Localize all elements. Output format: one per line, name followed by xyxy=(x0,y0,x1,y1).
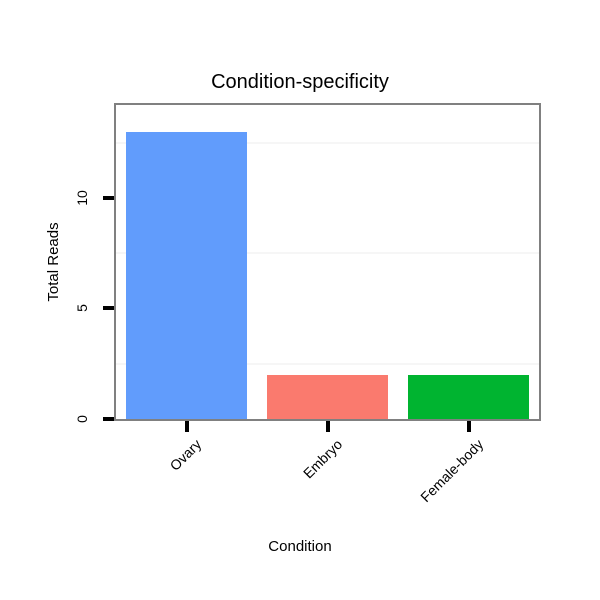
axes-layer: 0510OvaryEmbryoFemale-body xyxy=(0,0,600,600)
x-tick-label-female-body: Female-body xyxy=(368,436,485,553)
x-tick-mark xyxy=(185,421,189,432)
y-tick-mark xyxy=(103,417,114,421)
x-axis-title: Condition xyxy=(0,538,600,555)
y-tick-mark xyxy=(103,306,114,310)
y-tick-label: 5 xyxy=(73,293,91,323)
y-tick-label: 10 xyxy=(73,183,91,213)
x-tick-label-ovary: Ovary xyxy=(86,436,203,553)
x-tick-label-embryo: Embryo xyxy=(227,436,344,553)
y-tick-mark xyxy=(103,196,114,200)
y-axis-title: Total Reads xyxy=(45,182,63,342)
chart-canvas: Condition-specificity 0510OvaryEmbryoFem… xyxy=(0,0,600,600)
x-tick-mark xyxy=(467,421,471,432)
y-tick-label: 0 xyxy=(73,404,91,434)
x-tick-mark xyxy=(326,421,330,432)
